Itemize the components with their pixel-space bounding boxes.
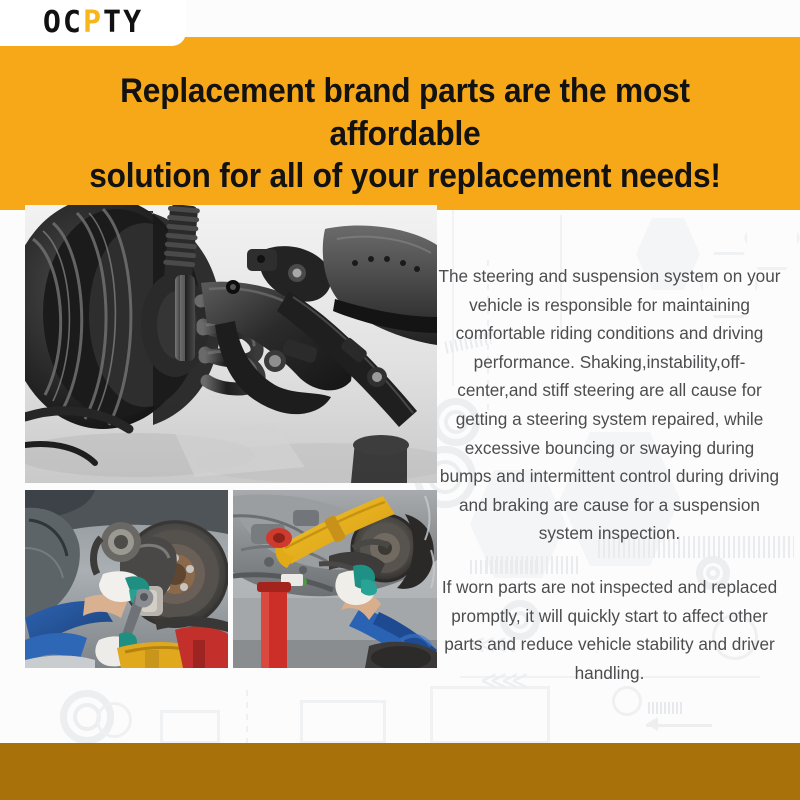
footer-gold-band bbox=[0, 743, 800, 800]
logo-accent-letter: P bbox=[83, 5, 103, 40]
circle-watermark-icon bbox=[612, 686, 642, 716]
gear-watermark-icon bbox=[60, 690, 114, 744]
headline-line-2: solution for all of your replacement nee… bbox=[66, 155, 745, 198]
headline: Replacement brand parts are the most aff… bbox=[66, 70, 745, 198]
comb-watermark-icon bbox=[648, 702, 684, 714]
body-paragraph-1: The steering and suspension system on yo… bbox=[437, 262, 782, 548]
promo-poster: ≪≪ ≪≪ OCPTY Replacement brand parts are … bbox=[0, 0, 800, 800]
body-copy: The steering and suspension system on yo… bbox=[437, 262, 782, 687]
dashed-watermark-line bbox=[246, 690, 248, 744]
body-paragraph-2: If worn parts are not inspected and repl… bbox=[437, 573, 782, 687]
hexagon-watermark-icon bbox=[744, 206, 800, 270]
logo-prefix: OC bbox=[43, 5, 83, 40]
lift-inspection-artwork bbox=[233, 490, 437, 668]
circle-watermark-icon bbox=[96, 702, 132, 738]
rect-watermark-icon bbox=[430, 686, 550, 744]
suspension-photo-artwork bbox=[25, 205, 437, 483]
logo-suffix: TY bbox=[103, 5, 143, 40]
brake-service-artwork bbox=[25, 490, 228, 668]
rect-watermark-icon bbox=[160, 710, 220, 744]
brand-logo-badge[interactable]: OCPTY bbox=[0, 0, 186, 46]
vehicle-lift-inspection-photo bbox=[233, 490, 437, 668]
brand-logo-text: OCPTY bbox=[43, 8, 143, 38]
headline-line-1: Replacement brand parts are the most aff… bbox=[66, 70, 745, 155]
arrow-watermark-icon bbox=[646, 716, 712, 732]
mechanic-brake-service-photo bbox=[25, 490, 228, 668]
suspension-assembly-photo bbox=[25, 205, 437, 483]
rect-watermark-icon bbox=[300, 700, 386, 744]
